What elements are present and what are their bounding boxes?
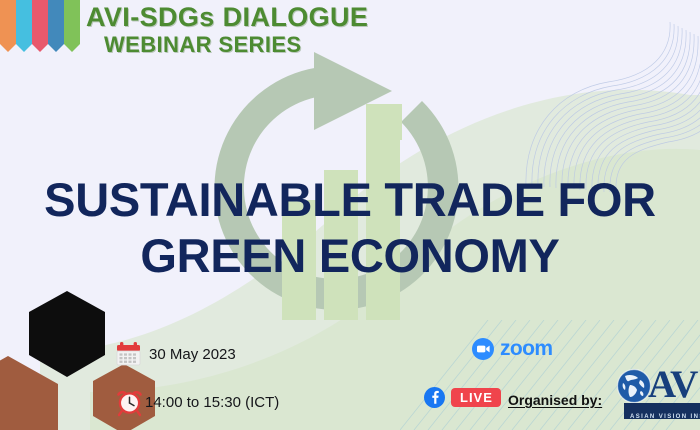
ribbon-decoration-group bbox=[0, 0, 80, 44]
series-header: AVI-SDGs DIALOGUE WEBINAR SERIES bbox=[86, 2, 368, 58]
event-details: 30 May 2023 14:00 to 15:30 (ICT) bbox=[115, 334, 279, 422]
wave-line-art bbox=[520, 18, 700, 193]
globe-icon bbox=[616, 368, 652, 404]
event-time-row: 14:00 to 15:30 (ICT) bbox=[115, 382, 279, 422]
zoom-wordmark: zoom bbox=[500, 337, 552, 361]
zoom-platform-badge[interactable]: zoom bbox=[472, 337, 552, 361]
series-title-line2: WEBINAR SERIES bbox=[104, 32, 368, 58]
live-label: LIVE bbox=[451, 388, 501, 407]
ribbon-skyblue bbox=[16, 0, 32, 44]
ribbon-steelblue bbox=[48, 0, 64, 44]
page-title-line1: SUSTAINABLE TRADE FOR bbox=[0, 172, 700, 228]
event-time-text: 14:00 to 15:30 (ICT) bbox=[145, 394, 279, 411]
avi-wordmark: AV bbox=[648, 367, 697, 406]
avi-tagline: ASIAN VISION INSTIT bbox=[630, 414, 700, 419]
facebook-live-badge[interactable]: LIVE bbox=[424, 387, 501, 408]
ribbon-pink bbox=[32, 0, 48, 44]
page-title-line2: GREEN ECONOMY bbox=[0, 228, 700, 284]
avi-logo: AV ASIAN VISION INSTIT bbox=[612, 367, 700, 419]
page-title: SUSTAINABLE TRADE FOR GREEN ECONOMY bbox=[0, 172, 700, 284]
ribbon-orange bbox=[0, 0, 16, 44]
alarm-clock-icon bbox=[115, 388, 144, 417]
ribbon-green bbox=[64, 0, 80, 44]
zoom-camera-icon bbox=[472, 338, 494, 360]
webinar-poster: AVI-SDGs DIALOGUE WEBINAR SERIES SUSTAIN… bbox=[0, 0, 700, 430]
facebook-icon bbox=[424, 387, 445, 408]
series-title-line1: AVI-SDGs DIALOGUE bbox=[86, 2, 368, 32]
organised-by-label: Organised by: bbox=[508, 392, 602, 408]
event-date-row: 30 May 2023 bbox=[115, 334, 279, 374]
event-date-text: 30 May 2023 bbox=[149, 346, 236, 363]
calendar-icon bbox=[115, 341, 142, 368]
avi-tagline-bar: ASIAN VISION INSTIT bbox=[624, 403, 700, 419]
